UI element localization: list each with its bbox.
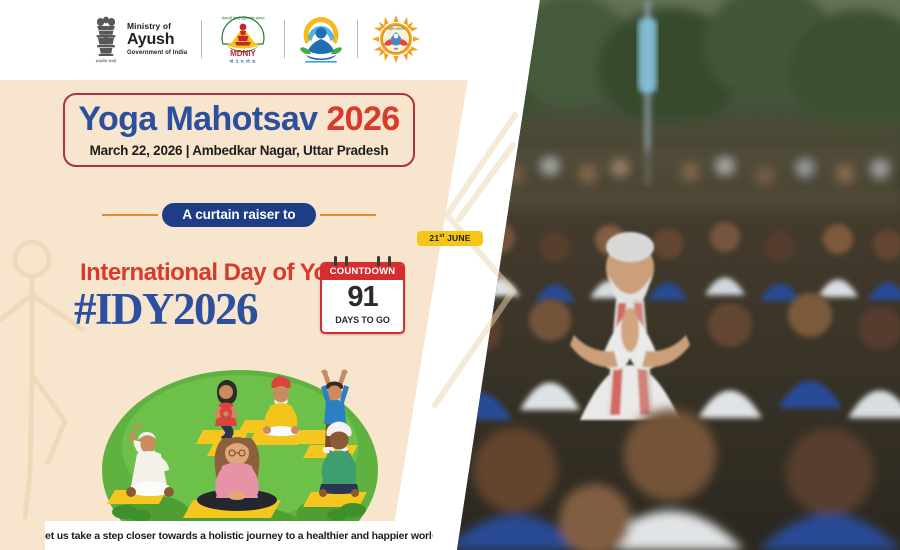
people-doing-yoga-on-mats-illustration xyxy=(95,352,385,522)
ashoka-lion-capital-emblem-icon: सत्यमेव जयते xyxy=(92,13,120,65)
ayush-motto: सत्यमेव जयते xyxy=(96,58,117,63)
event-title-name: Yoga Mahotsav xyxy=(78,100,317,138)
curtain-raiser-pill: A curtain raiser to xyxy=(162,203,315,227)
emblem-top-text: राष्ट्रीय संस्थान xyxy=(388,26,405,31)
ayush-line3: Government of India xyxy=(127,50,187,56)
sunburst-emblem-icon: राष्ट्रीय संस्थान योग xyxy=(372,15,420,63)
countdown-footer: DAYS TO GO xyxy=(322,315,403,325)
logo-divider-3 xyxy=(357,20,358,58)
mdniy-sub: मो. दे. रा. यो. सं. xyxy=(230,59,257,64)
event-subtitle: March 22, 2026 | Ambedkar Nagar, Uttar P… xyxy=(90,143,389,158)
yoga-mahotsav-poster: सत्यमेव जयते Ministry of Ayush Governmen… xyxy=(0,0,900,550)
countdown-header: COUNTDOWN xyxy=(322,264,403,280)
logo-divider-2 xyxy=(284,20,285,58)
ayush-line1: Ministry of xyxy=(127,22,187,31)
curtain-line-left xyxy=(102,214,158,216)
mdniy-abbr: MDNIY xyxy=(230,49,256,58)
tagline-banner: Let us take a step closer towards a holi… xyxy=(45,521,435,550)
sunburst-national-emblem-logo: राष्ट्रीय संस्थान योग xyxy=(372,9,420,69)
ministry-of-ayush-logo: सत्यमेव जयते Ministry of Ayush Governmen… xyxy=(92,9,187,69)
ayush-line2: Ayush xyxy=(127,32,187,48)
june-date-pill: 21st JUNE xyxy=(417,231,483,246)
international-day-of-yoga-logo xyxy=(299,9,343,69)
event-title-box: Yoga Mahotsav 2026 March 22, 2026 | Ambe… xyxy=(63,93,415,167)
logo-bar: सत्यमेव जयते Ministry of Ayush Governmen… xyxy=(0,0,520,78)
calendar-rings-icon xyxy=(320,256,405,266)
idy-hashtag: #IDY2026 xyxy=(74,283,257,335)
mdniy-hindi-text: मोरारजी देसाई राष्ट्रीय योग संस्थान xyxy=(222,16,266,21)
event-title-year: 2026 xyxy=(326,100,399,138)
emblem-bottom-text: योग xyxy=(394,47,399,51)
idy-yoga-figure-icon xyxy=(299,13,343,65)
tagline-text: Let us take a step closer towards a holi… xyxy=(39,530,441,542)
countdown-calendar: COUNTDOWN 91 DAYS TO GO xyxy=(320,262,405,334)
event-title: Yoga Mahotsav 2026 xyxy=(78,102,399,136)
mdniy-logo: मोरारजी देसाई राष्ट्रीय योग संस्थान MDNI… xyxy=(216,9,270,69)
june-month: JUNE xyxy=(447,233,470,243)
curtain-line-right xyxy=(320,214,376,216)
june-suffix: st xyxy=(439,233,444,239)
countdown-days-number: 91 xyxy=(322,283,403,312)
mdniy-emblem-icon: मोरारजी देसाई राष्ट्रीय योग संस्थान MDNI… xyxy=(216,11,270,67)
curtain-raiser-row: A curtain raiser to xyxy=(63,203,415,227)
logo-divider-1 xyxy=(201,20,202,58)
june-number: 21 xyxy=(429,233,439,243)
